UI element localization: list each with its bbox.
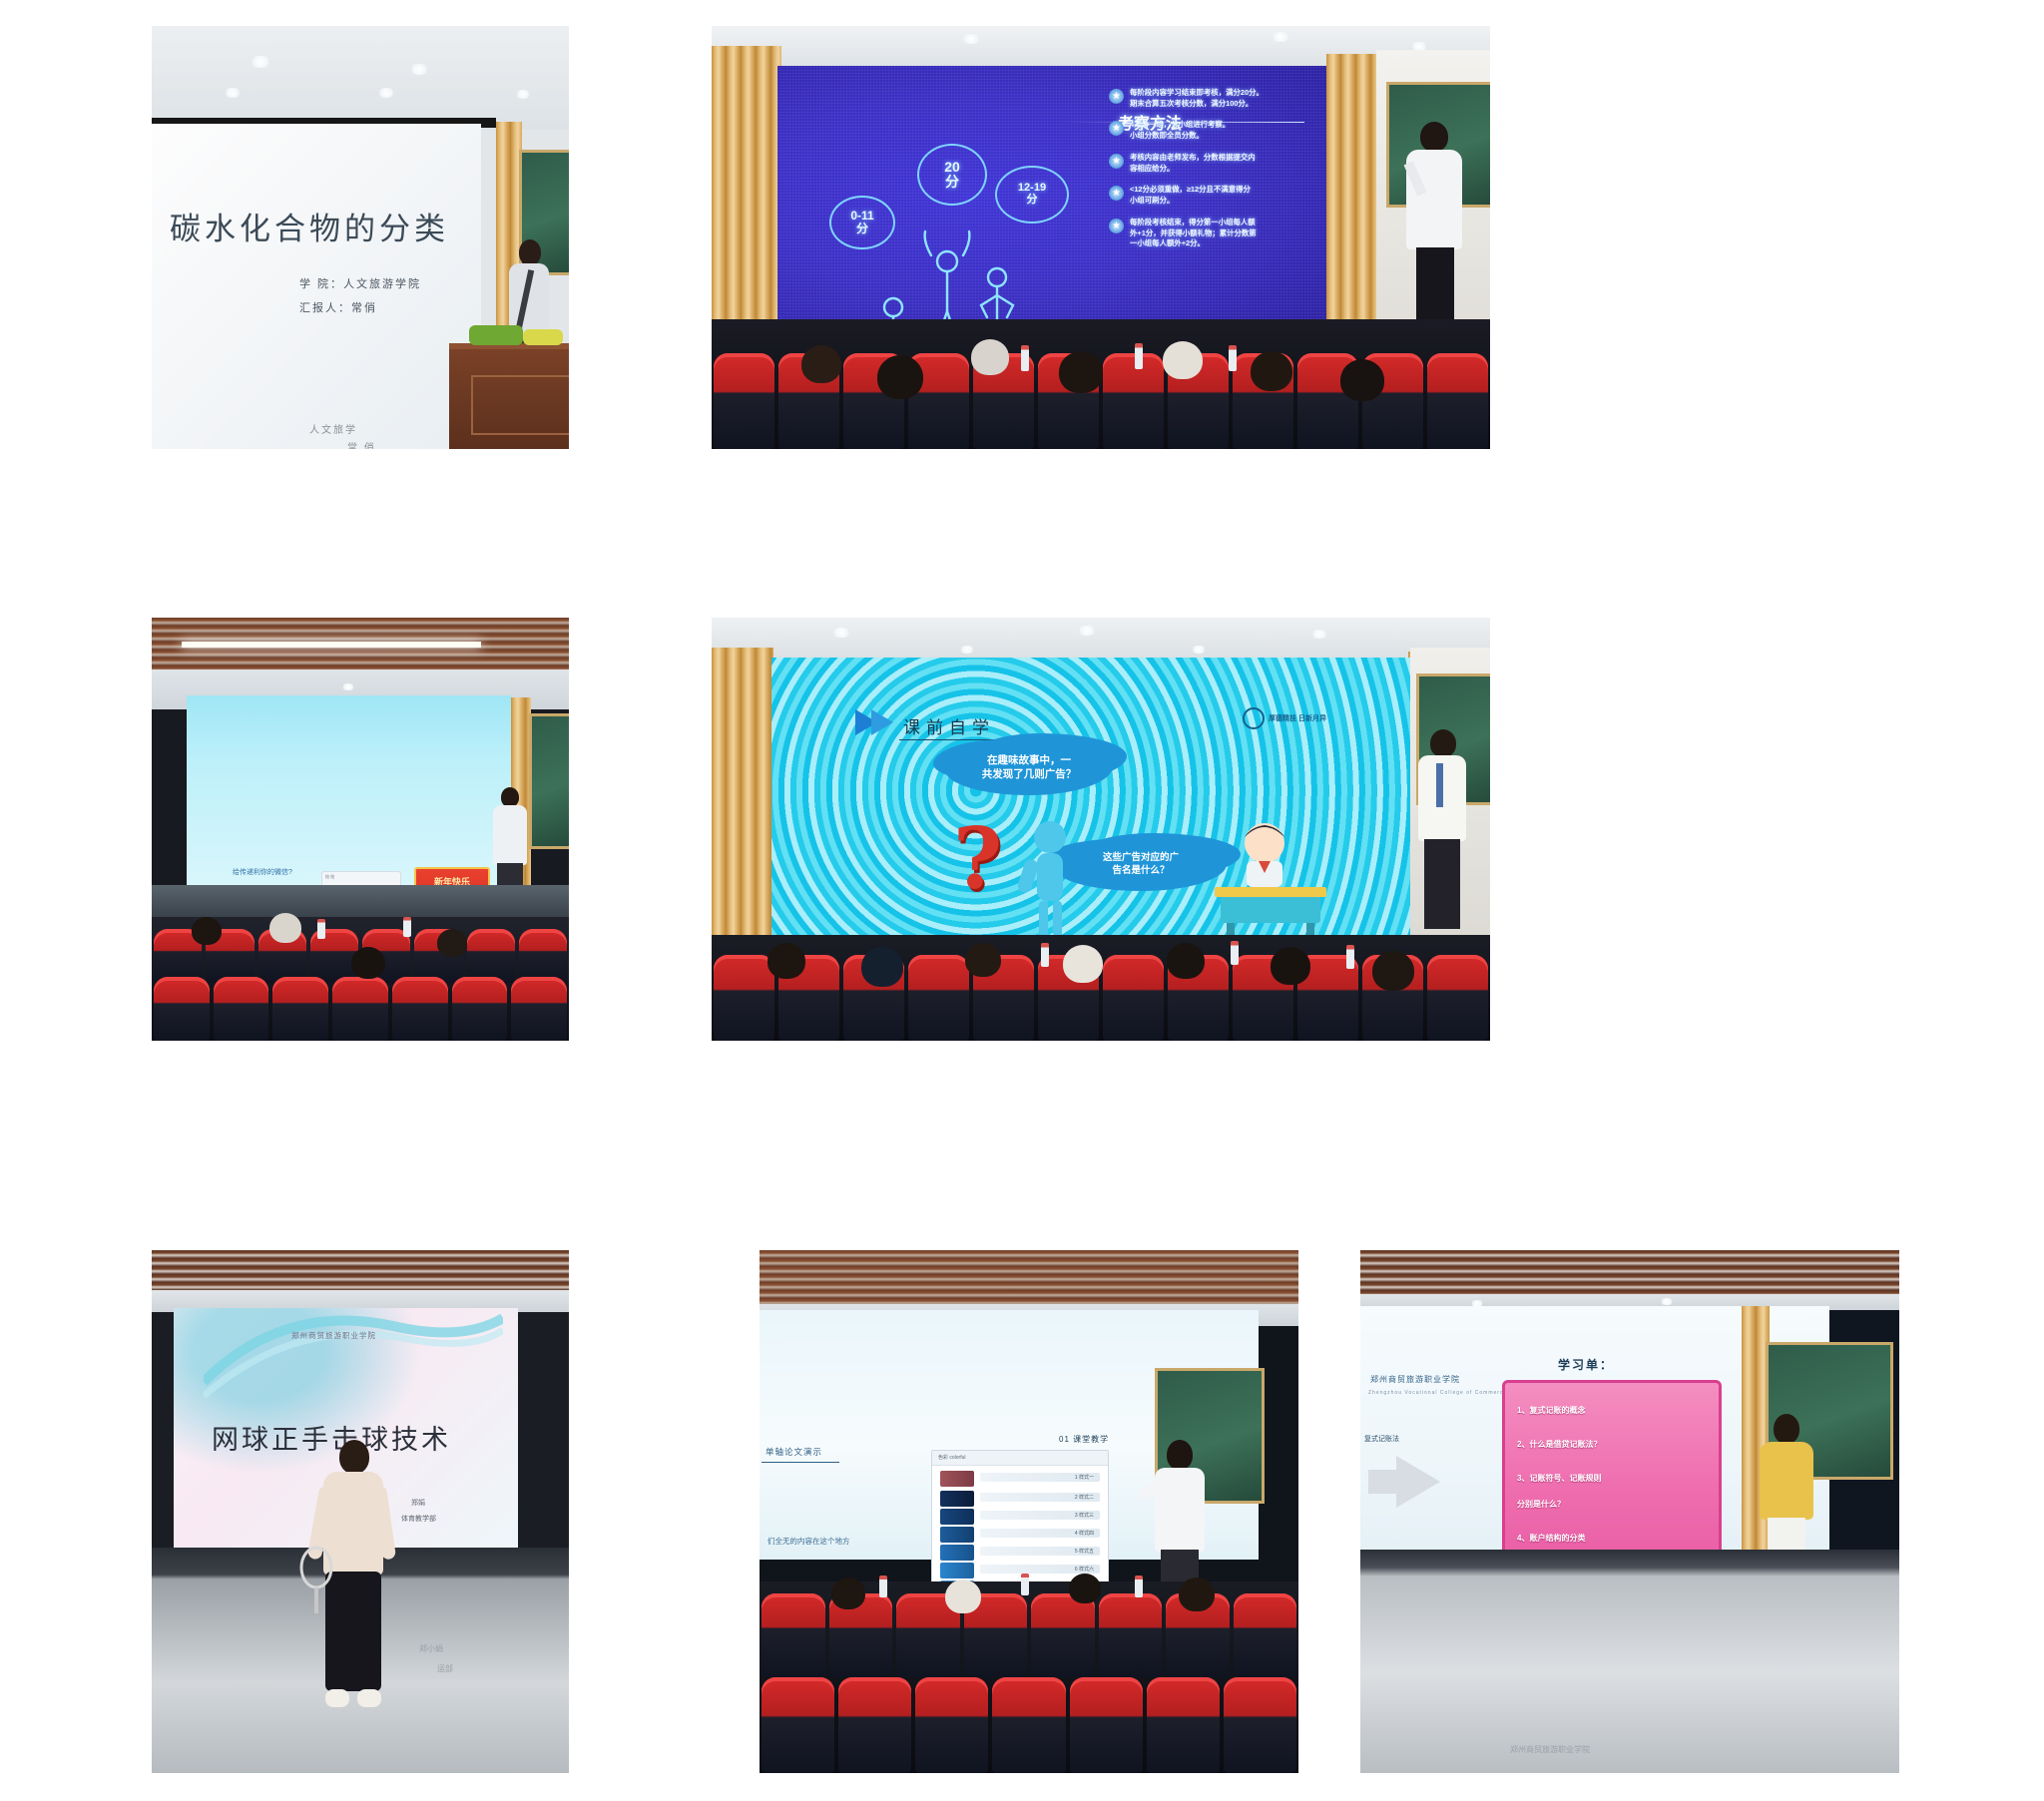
color-swatch (940, 1491, 974, 1507)
audience-head (831, 1577, 865, 1609)
ceiling-light (515, 90, 531, 99)
ceiling-light (959, 646, 975, 654)
water-bottle (1021, 345, 1029, 371)
fruit-prop (523, 329, 563, 345)
question-mark-icon: ? (953, 809, 1002, 908)
water-bottle (1135, 1576, 1143, 1597)
seat (519, 929, 567, 983)
curtain-left (712, 648, 773, 949)
led-screen: 考察方法 0-11 分 20 分 12-19 分 (777, 66, 1326, 355)
audience-head (192, 917, 222, 945)
audience-head (877, 355, 923, 399)
audience-head (269, 913, 301, 943)
slide-presenter-dept: 体育教学部 (401, 1514, 436, 1524)
scroll-item: 1、复式记账的概念 (1517, 1405, 1585, 1416)
presenter (1416, 729, 1468, 929)
seat (272, 977, 328, 1041)
water-bottle (1229, 345, 1237, 371)
slide-faded-text-1: 郑小娟 (419, 1643, 443, 1654)
audience-head (351, 947, 385, 979)
vegetable-prop (469, 325, 523, 345)
blackboard (529, 713, 569, 849)
panel-row: 6 样式六 (980, 1565, 1100, 1574)
seat (908, 955, 969, 1041)
water-bottle (403, 917, 411, 937)
audience-head (971, 339, 1009, 375)
seat (1224, 1677, 1296, 1773)
presenter (309, 1440, 395, 1739)
student-at-desk-illustration (1195, 817, 1344, 935)
chevron-right-icon (871, 709, 893, 735)
water-bottle (317, 919, 325, 939)
seat (1427, 353, 1488, 449)
audience-head (1251, 351, 1292, 391)
panel-header: 色彩 colorful (932, 1451, 1108, 1466)
faded-floor-text: 郑州商贸旅游职业学院 (1510, 1744, 1590, 1755)
photo-3: 给传递利你的微信? 抢红包 抢 抢 新年快乐 (152, 618, 569, 1041)
ceiling-light (341, 683, 355, 690)
strip-light (182, 642, 481, 648)
color-swatch (940, 1471, 974, 1487)
seat-row-front (760, 1677, 1298, 1773)
ceiling-light (1191, 646, 1207, 654)
scroll-item: 4、账户结构的分类 (1517, 1533, 1585, 1544)
slide-label-left-bottom: 们全无的内容在这个地方 (767, 1536, 850, 1547)
star-icon (1109, 89, 1124, 104)
curtain-right (1326, 54, 1376, 353)
seat (452, 977, 508, 1041)
photo-5: 郑州商贸旅游职业学院 网球正手击球技术 郑娟 体育教学部 郑小娟 运部 (152, 1250, 569, 1773)
slide-faded-text-1: 人文旅学 (309, 421, 357, 436)
panel-row: 3 样式三 (980, 1511, 1100, 1520)
audience-head (801, 345, 841, 383)
ceiling-light (409, 64, 429, 75)
photo-collage: 碳水化合物的分类 学 院：人文旅游学院 汇报人：常俏 人文旅学 常 俏 (0, 0, 2044, 1801)
assessment-bullets: 每阶段内容学习结束即考核，满分20分。 期末合算五次考核分数，满分100分。 4… (1109, 88, 1328, 260)
panel-row: 4 样式四 (980, 1529, 1100, 1538)
water-bottle (1021, 1574, 1029, 1595)
color-swatch (940, 1545, 974, 1561)
bullet-item: 每阶段考核结束，得分第一小组每人额 外+1分，并获得小额礼物；累计分数第 一小组… (1109, 218, 1328, 249)
audience-head (965, 943, 1001, 977)
seat-row-front (152, 977, 569, 1041)
panel-header-label: 色彩 colorful (938, 1454, 966, 1461)
slide-label-left-top: 单轴论文演示 (766, 1446, 822, 1458)
tennis-racket (293, 1546, 339, 1615)
seat (1070, 1677, 1143, 1773)
panel-row-label: 2 样式二 (1075, 1494, 1094, 1501)
color-swatch (940, 1509, 974, 1525)
seat (1103, 353, 1164, 449)
ceiling-wood-slats (1360, 1250, 1899, 1294)
seat (838, 1677, 911, 1773)
audience-head (1167, 943, 1205, 979)
ceiling (712, 618, 1490, 662)
audience-head (1163, 341, 1203, 379)
slide-presenter-name: 郑娟 (411, 1498, 425, 1508)
seat (511, 977, 567, 1041)
stage-floor (1360, 1550, 1899, 1773)
seat (915, 1677, 988, 1773)
ceiling-light (224, 88, 242, 98)
panel-row-label: 4 样式四 (1075, 1530, 1094, 1537)
photo-4: 课前自学 厚德精技 日新月异 在趣味故事中，一 共发现了几则广告？ 这些广告对应… (712, 618, 1490, 1041)
seat (332, 977, 388, 1041)
bullet-item: <12分必须重做，≥12分且不满意得分 小组可刷分。 (1109, 185, 1328, 206)
bullet-text: 考核内容由老师发布，分数根据提交内 容相应给分。 (1130, 153, 1256, 174)
audience-head (1059, 351, 1103, 393)
audience-head (1271, 947, 1310, 985)
ceiling-wood-slats (760, 1250, 1298, 1304)
seat (1147, 1677, 1220, 1773)
ceiling-wood-slats (152, 1250, 569, 1290)
bullet-item: 每阶段内容学习结束即考核，满分20分。 期末合算五次考核分数，满分100分。 (1109, 88, 1328, 109)
panel-row-label: 3 样式三 (1075, 1512, 1094, 1519)
audience-head (945, 1579, 981, 1613)
arrow-label: 复式记账法 (1364, 1434, 1399, 1444)
audience-head-with-cap (861, 947, 903, 987)
slide-faded-text-2: 常 俏 (347, 439, 376, 449)
presenter (1406, 122, 1462, 341)
audience-head (1372, 951, 1414, 991)
audience-head (767, 943, 805, 979)
panel-row: 1 样式一 (980, 1473, 1100, 1482)
slide-subtitle-college: 学 院：人文旅游学院 (299, 275, 421, 291)
panel-row-label: 5 样式五 (1075, 1548, 1094, 1555)
bullet-text: 每阶段考核结束，得分第一小组每人额 外+1分，并获得小额礼物；累计分数第 一小组… (1130, 218, 1257, 249)
star-icon (1109, 121, 1124, 136)
bullet-text: 每阶段内容学习结束即考核，满分20分。 期末合算五次考核分数，满分100分。 (1130, 88, 1264, 109)
panel-row: 2 样式二 (980, 1493, 1100, 1502)
seat (1234, 1593, 1297, 1677)
star-icon (1109, 186, 1124, 201)
photo-2: 考察方法 0-11 分 20 分 12-19 分 (712, 26, 1490, 449)
bullet-text: <12分必须重做，≥12分且不满意得分 小组可刷分。 (1130, 185, 1251, 206)
scroll-item: 3、记账符号、记账规则 (1517, 1473, 1601, 1484)
podium (449, 343, 569, 449)
slide-label-right: 01 课堂教学 (1059, 1434, 1109, 1445)
color-swatch (940, 1527, 974, 1543)
slide-organization: 郑州商贸旅游职业学院 (291, 1330, 376, 1341)
water-bottle (1346, 945, 1354, 969)
slide-subtitle-presenter: 汇报人：常俏 (299, 299, 377, 315)
water-bottle (1041, 943, 1049, 967)
seat (214, 977, 269, 1041)
water-bottle (1231, 941, 1239, 965)
ceiling-light (961, 34, 981, 44)
ceiling-light (1077, 626, 1097, 636)
panel-row-label: 6 样式六 (1075, 1566, 1094, 1573)
slide-faded-text-2: 运部 (437, 1663, 453, 1674)
audience-head (1069, 1574, 1101, 1603)
star-icon (1109, 219, 1124, 233)
seat (762, 1593, 825, 1677)
seat (1031, 1593, 1095, 1677)
seat (1427, 955, 1488, 1041)
badge-circle-icon (1243, 707, 1265, 729)
scroll-item: 2、什么是借贷记账法？ (1517, 1439, 1601, 1450)
audience-head (1063, 945, 1103, 983)
slide-title: 碳水化合物的分类 (170, 204, 449, 248)
ceiling (152, 26, 569, 130)
bubble-unit: 分 (945, 175, 959, 190)
decorative-swoosh (204, 1312, 503, 1422)
arrow-right-icon (1396, 1456, 1440, 1508)
badge-text: 厚德精技 日新月异 (1269, 713, 1326, 723)
ceiling-light (250, 56, 271, 68)
ceiling-light (1271, 32, 1290, 42)
water-bottle (879, 1576, 887, 1597)
ceiling-light (377, 88, 395, 98)
bullet-item: 4人为一组，分小组进行考察。 小组分数即全员分数。 (1109, 120, 1328, 141)
ceiling-light (1660, 1298, 1674, 1305)
slide-organization: 郑州商贸旅游职业学院 (1370, 1374, 1460, 1385)
audience-head (1340, 359, 1384, 401)
seat (714, 955, 774, 1041)
seat (992, 1677, 1065, 1773)
seat (762, 1677, 834, 1773)
water-bottle (1135, 343, 1143, 369)
slide-question: 给传递利你的微信? (233, 867, 292, 877)
school-badge: 厚德精技 日新月异 (1243, 707, 1326, 729)
scroll-item: 分别是什么？ (1517, 1499, 1565, 1510)
bullet-text: 4人为一组，分小组进行考察。 小组分数即全员分数。 (1130, 120, 1230, 141)
seat (714, 353, 774, 449)
stage-front (152, 885, 569, 917)
ceiling-light (1310, 630, 1328, 639)
thought-cloud-1: 在趣味故事中，一 共发现了几则广告？ (945, 739, 1113, 795)
photo-7: 郑州商贸旅游职业学院 Zhengzhou Vocational College … (1360, 1250, 1899, 1773)
photo-1: 碳水化合物的分类 学 院：人文旅游学院 汇报人：常俏 人文旅学 常 俏 (152, 26, 569, 449)
panel-row: 5 样式五 (980, 1547, 1100, 1556)
seat (467, 929, 515, 983)
bullet-item: 考核内容由老师发布，分数根据提交内 容相应给分。 (1109, 153, 1328, 174)
blue-mascot-illustration (1017, 817, 1083, 943)
audience-head (437, 929, 467, 957)
slide-header: 课前自学 (903, 713, 995, 738)
card-caption: 抢 抢 (325, 874, 397, 880)
photo-6: 单轴论文演示 们全无的内容在这个地方 01 课堂教学 色彩 colorful 1… (760, 1250, 1298, 1773)
seat (392, 977, 448, 1041)
panel-row-label: 1 样式一 (1075, 1474, 1094, 1481)
audience-head (1179, 1577, 1215, 1611)
scroll-title: 学习单： (1558, 1356, 1614, 1373)
bubble-value: 20 (944, 160, 960, 175)
seat (1103, 955, 1164, 1041)
star-icon (1109, 154, 1124, 169)
led-screen: 给传递利你的微信? 抢红包 抢 抢 新年快乐 (187, 695, 511, 885)
seat (1099, 1593, 1163, 1677)
ceiling-light (831, 628, 851, 638)
seat (154, 977, 210, 1041)
curtain-left (712, 46, 781, 363)
color-swatch (940, 1563, 974, 1578)
led-screen: 课前自学 厚德精技 日新月异 在趣味故事中，一 共发现了几则广告？ 这些广告对应… (771, 658, 1410, 947)
